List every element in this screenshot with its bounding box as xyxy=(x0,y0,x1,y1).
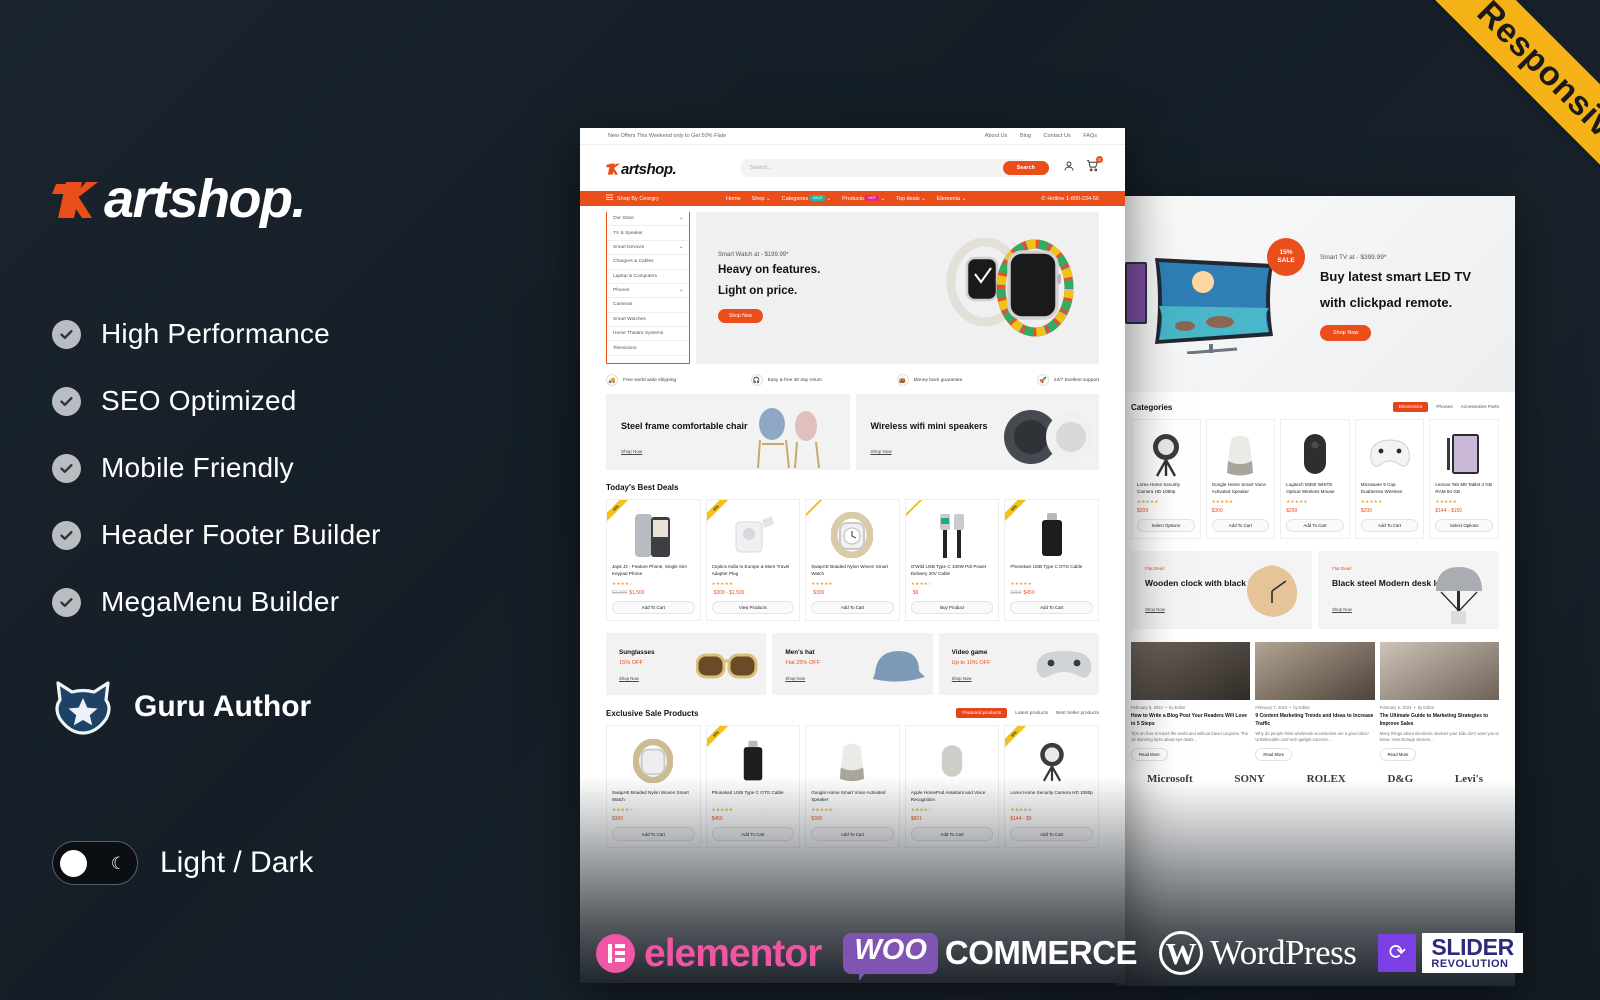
discount-badge: 15% xyxy=(607,500,634,527)
tab-accessories[interactable]: Accessories Parts xyxy=(1461,405,1499,410)
blog-meta: February 9, 2024 • by Editor xyxy=(1131,705,1250,710)
light-dark-toggle[interactable]: ☾ Light / Dark xyxy=(52,841,572,885)
product-name: Google Home Smart Voice Activated Speake… xyxy=(811,790,894,804)
product-card[interactable]: 15% Ceptics India to Europe & More Trave… xyxy=(706,499,801,621)
services-bar: 🚚 Free world wide shipping 🎧 Easy & free… xyxy=(580,364,1125,394)
site-header: artshop. Search... Search 0 xyxy=(580,145,1125,191)
brand-levis: Levi's xyxy=(1455,773,1483,785)
account-icon[interactable] xyxy=(1063,159,1075,177)
mockup-screenshot-front: New Offers This Weekend only to Get 50% … xyxy=(580,128,1125,983)
product-name: Phonekart USB Type C OTG Cable xyxy=(1010,564,1093,578)
blog-card[interactable]: February 5, 2024 • by Editor The Ultimat… xyxy=(1380,642,1499,761)
check-icon xyxy=(52,387,81,416)
service-label: Free world wide shipping xyxy=(623,378,676,383)
product-price: $200 xyxy=(1361,508,1419,514)
blog-date: February 5, 2024 xyxy=(1380,705,1412,710)
product-cta[interactable]: Add To Cart xyxy=(712,827,795,840)
product-price: $801 xyxy=(911,816,994,822)
product-price: $300 xyxy=(811,816,894,822)
cart-icon[interactable]: 0 xyxy=(1086,159,1099,177)
sr-line-1: SLIDER xyxy=(1431,936,1514,959)
search-input[interactable]: Search... xyxy=(740,159,1029,177)
nav-item-home[interactable]: Home xyxy=(726,196,741,202)
tab-latest-products[interactable]: Latest products xyxy=(1015,711,1048,716)
hero-title-2: Light on price. xyxy=(718,283,820,300)
discount-badge: 15% xyxy=(1005,726,1032,753)
hotline-text: ✆ Hotline 1-800-234-56 xyxy=(1041,196,1099,202)
feature-item: SEO Optimized xyxy=(52,385,572,417)
feature-label: High Performance xyxy=(101,318,330,350)
product-name: Logitech M350 WHITE Optical Wireless Mou… xyxy=(1286,482,1344,496)
slider-revolution-label: SLIDER REVOLUTION xyxy=(1422,933,1523,974)
blog-card[interactable]: February 9, 2024 • by Editor How to Writ… xyxy=(1131,642,1250,761)
exclusive-grid: SwapAE Braided Nylon Woven Smart Watch ★… xyxy=(580,725,1125,847)
product-cta[interactable]: Add To Cart xyxy=(1286,519,1344,532)
deal-link[interactable]: Shop Now xyxy=(1145,607,1165,612)
topbar-links: About Us Blog Contact Us FAQs xyxy=(974,133,1097,139)
product-card[interactable]: Google Home Smart Voice Activated Speake… xyxy=(1206,419,1276,539)
product-name: Apple HomePod Assistant and Voice Recogn… xyxy=(911,790,994,804)
feature-label: Header Footer Builder xyxy=(101,519,381,551)
site-topbar: New Offers This Weekend only to Get 50% … xyxy=(580,128,1125,145)
service-label: Easy & free 30 day return xyxy=(768,378,822,383)
product-card[interactable]: SwapAE Braided Nylon Woven Smart Watch ★… xyxy=(805,499,900,621)
product-card[interactable]: Lorex Home Security Camera HD 1080p ★★★★… xyxy=(1131,419,1201,539)
blog-read-more[interactable]: Read More xyxy=(1255,748,1292,761)
smartwatch-image xyxy=(937,230,1077,348)
product-name: Phonekart USB Type C OTG Cable xyxy=(712,790,795,804)
blog-read-more[interactable]: Read More xyxy=(1380,748,1417,761)
deal-tag: Flat Deal! xyxy=(1145,566,1165,571)
tv-hero-title-1: Buy latest smart LED TV xyxy=(1320,267,1471,287)
truck-icon: 🚚 xyxy=(606,374,618,386)
sale-banner-link[interactable]: Shop Now xyxy=(785,676,805,681)
topbar-link-faqs[interactable]: FAQs xyxy=(1083,133,1097,139)
tv-hero-title-2: with clickpad remote. xyxy=(1320,293,1471,313)
responsive-ribbon: Responsive xyxy=(1350,0,1600,250)
product-rating: ★★★★★ xyxy=(712,807,795,813)
blog-excerpt: Tips on how to travel the world and with… xyxy=(1131,731,1250,744)
exclusive-header: Exclusive Sale Products Featured product… xyxy=(580,695,1125,725)
blog-title: 9 Content Marketing Trends and Ideas to … xyxy=(1255,713,1374,728)
product-image xyxy=(1435,426,1493,482)
sale-banner-title: Men's hat xyxy=(785,649,814,656)
toggle-switch[interactable]: ☾ xyxy=(52,841,138,885)
product-cta[interactable]: Add To Cart xyxy=(612,601,695,614)
elementor-logo: elementor xyxy=(596,934,821,973)
check-icon xyxy=(52,320,81,349)
category-item[interactable]: Laptop & Computers xyxy=(607,270,689,284)
feature-item: Mobile Friendly xyxy=(52,452,572,484)
brand-k-icon xyxy=(52,170,108,226)
brand-strip: Microsoft SONY ROLEX D&G Levi's xyxy=(1131,761,1499,785)
product-card[interactable]: Logitech M350 WHITE Optical Wireless Mou… xyxy=(1280,419,1350,539)
categories-title: Categories xyxy=(1131,403,1172,412)
product-image xyxy=(811,732,894,790)
wordpress-icon: W xyxy=(1159,931,1203,975)
cat-star-icon xyxy=(52,678,114,736)
product-card[interactable]: 15% Lorex Home Security Camera HD 1080p … xyxy=(1004,725,1099,847)
blog-meta: February 5, 2024 • by Editor xyxy=(1380,705,1499,710)
blog-date: February 9, 2024 xyxy=(1131,705,1163,710)
sale-banner[interactable]: Men's hat Flat 25% OFF Shop Now xyxy=(772,633,932,695)
product-image xyxy=(1212,426,1270,482)
nav-badge-hot: HOT xyxy=(865,195,879,201)
product-rating: ★★★★☆ xyxy=(911,807,994,813)
product-cta[interactable]: Add To Cart xyxy=(1010,601,1093,614)
nav-item-top-deals[interactable]: Top deals ⌄ xyxy=(896,196,926,202)
woocommerce-label: COMMERCE xyxy=(945,934,1137,972)
brand-microsoft: Microsoft xyxy=(1147,773,1193,785)
service-item: 🚀 24/7 Exellent support xyxy=(1037,374,1099,386)
sr-line-2: REVOLUTION xyxy=(1431,959,1514,970)
sale-badge: 15% SALE xyxy=(1267,238,1305,276)
product-price: $144 - $150 xyxy=(1435,508,1493,514)
discount-badge: 15% xyxy=(1005,500,1032,527)
category-item[interactable]: TV & Speaker xyxy=(607,226,689,240)
elementor-icon xyxy=(596,934,635,973)
product-name: SwapAE Braided Nylon Woven Smart Watch xyxy=(811,564,894,578)
product-name: Lorex Home Security Camera HD 1080p xyxy=(1010,790,1093,804)
brand-logo: artshop. xyxy=(52,170,572,226)
category-item[interactable]: Our Store⌄ xyxy=(607,212,689,226)
wordpress-logo: W WordPress xyxy=(1159,931,1356,975)
deals-section-title: Today's Best Deals xyxy=(580,470,1125,499)
rocket-icon: 🚀 xyxy=(1037,374,1049,386)
service-item: 🚚 Free world wide shipping xyxy=(606,374,676,386)
product-cta[interactable]: Add To Cart xyxy=(612,827,695,840)
product-card[interactable]: 15% Phonekart USB Type C OTG Cable ★★★★★… xyxy=(1004,499,1099,621)
product-rating: ★★★★★ xyxy=(1137,499,1195,505)
wordpress-label: WordPress xyxy=(1210,933,1356,973)
blog-author: by Editor xyxy=(1418,705,1435,710)
nav-item-elements[interactable]: Elementa ⌄ xyxy=(937,196,966,202)
sale-banner-link[interactable]: Shop Now xyxy=(619,676,639,681)
shop-by-category-label: Shop By Ceorgry xyxy=(617,196,659,202)
tab-featured-products[interactable]: Featured products xyxy=(956,708,1007,718)
hero-text: Smart Watch at - $199.99* Heavy on featu… xyxy=(718,252,820,323)
promo-link[interactable]: Shop Now xyxy=(871,449,892,454)
deal-tag: Flat Deal! xyxy=(1332,566,1352,571)
category-item[interactable]: Smart Devices⌄ xyxy=(607,241,689,255)
product-price: $300 xyxy=(811,590,894,596)
product-rating: ★★★★★ xyxy=(1435,499,1493,505)
cart-count-badge: 0 xyxy=(1096,156,1103,163)
deal-banner[interactable]: Flat Deal! Wooden clock with black hands… xyxy=(1131,551,1312,629)
promo-banners: Steel frame comfortable chair Shop Now W… xyxy=(580,394,1125,470)
tv-hero-text: Smart TV at - $399.99* Buy latest smart … xyxy=(1320,254,1471,341)
product-card[interactable]: 15% Phonekart USB Type C OTG Cable ★★★★★… xyxy=(706,725,801,847)
flat-deal-banners: Flat Deal! Wooden clock with black hands… xyxy=(1131,551,1499,629)
product-name: Google Home Smart Voice Activated Speake… xyxy=(1212,482,1270,496)
product-rating: ★★★★☆ xyxy=(911,581,994,587)
tab-best-seller-products[interactable]: Best Seller products xyxy=(1056,711,1099,716)
mockup-screenshot-back: 15% SALE Smart TV at - $399.99* Buy late… xyxy=(1115,196,1515,986)
feature-item: MegaMenu Builder xyxy=(52,586,572,618)
slider-revolution-logo: ⟳ SLIDER REVOLUTION xyxy=(1378,933,1523,974)
shop-by-category-button[interactable]: Shop By Ceorgry xyxy=(606,194,726,203)
product-card[interactable]: SwapAE Braided Nylon Woven Smart Watch ★… xyxy=(606,725,701,847)
nav-links: Home Shop ⌄ Categories SALE ⌄ Products H… xyxy=(726,196,1041,202)
headset-icon: 🎧 xyxy=(751,374,763,386)
category-item[interactable]: Televisions xyxy=(607,341,689,355)
product-price: $900$450 xyxy=(1010,590,1093,596)
product-price: $299 xyxy=(1286,508,1344,514)
discount-badge: 15% xyxy=(707,726,734,753)
bag-icon: 👜 xyxy=(897,374,909,386)
brand-rolex: ROLEX xyxy=(1307,773,1346,785)
blog-thumbnail xyxy=(1380,642,1499,700)
promo-banner[interactable]: Steel frame comfortable chair Shop Now xyxy=(606,394,850,470)
category-item[interactable]: Home Theatre Systems xyxy=(607,327,689,341)
elementor-label: elementor xyxy=(644,934,821,973)
product-price: $2,000$1,500 xyxy=(612,590,695,596)
feature-list: High Performance SEO Optimized Mobile Fr… xyxy=(52,318,572,618)
product-cta[interactable]: Add To Cart xyxy=(1212,519,1270,532)
blog-author: by Editor xyxy=(1293,705,1310,710)
categories-section: Categories Electronics Phones Accessorie… xyxy=(1115,392,1515,785)
sale-banner[interactable]: Video game Up to 10% OFF Shop Now xyxy=(939,633,1099,695)
deals-grid: 15% Jajot J2 - Feature Phone, Single Sim… xyxy=(580,499,1125,621)
check-icon xyxy=(52,454,81,483)
product-name: Lorex Home Security Camera HD 1080p xyxy=(1137,482,1195,496)
product-price: $209 xyxy=(1137,508,1195,514)
feature-label: SEO Optimized xyxy=(101,385,297,417)
deal-banner[interactable]: Flat Deal! Black steel Modern desk lemp … xyxy=(1318,551,1499,629)
product-cta[interactable]: Add To Cart xyxy=(1361,519,1419,532)
discount-badge: 15% xyxy=(707,500,734,527)
responsive-ribbon-label: Responsive xyxy=(1405,0,1600,224)
woo-icon: WOO xyxy=(843,933,938,974)
tab-electronics[interactable]: Electronics xyxy=(1393,402,1428,412)
check-icon xyxy=(52,588,81,617)
product-card[interactable]: 15% Jajot J2 - Feature Phone, Single Sim… xyxy=(606,499,701,621)
site-navbar: Shop By Ceorgry Home Shop ⌄ Categories S… xyxy=(580,191,1125,206)
sale-banner-offer: Up to 10% OFF xyxy=(952,660,991,666)
check-icon xyxy=(52,521,81,550)
product-card[interactable]: Lenovo Tab M9 Tablet 4 GB RAM 64 GB ★★★★… xyxy=(1429,419,1499,539)
blog-excerpt: Many things about electronic devices you… xyxy=(1380,731,1499,744)
product-image xyxy=(612,732,695,790)
categories-tabs: Electronics Phones Accessories Parts xyxy=(1393,402,1499,412)
discount-badge xyxy=(806,500,833,527)
product-price: $144 - $9 xyxy=(1010,816,1093,822)
category-product-grid: Lorex Home Security Camera HD 1080p ★★★★… xyxy=(1131,419,1499,539)
product-image xyxy=(911,732,994,790)
categories-header: Categories Electronics Phones Accessorie… xyxy=(1131,402,1499,412)
product-price: $300 xyxy=(612,816,695,822)
topbar-link-contact[interactable]: Contact Us xyxy=(1043,133,1070,139)
exclusive-tabs: Featured products Latest products Best S… xyxy=(956,708,1099,718)
blog-author: by Editor xyxy=(1169,705,1186,710)
product-price: $9 xyxy=(911,590,994,596)
blog-meta: February 7, 2024 • by Editor xyxy=(1255,705,1374,710)
blog-list: February 9, 2024 • by Editor How to Writ… xyxy=(1131,642,1499,761)
promo-banner[interactable]: Wireless wifi mini speakers Shop Now xyxy=(856,394,1100,470)
woocommerce-logo: WOO COMMERCE xyxy=(843,933,1137,974)
product-rating: ★★★★★ xyxy=(811,807,894,813)
product-cta[interactable]: Buy Product xyxy=(911,601,994,614)
sale-banner[interactable]: Sunglasses 15% OFF Shop Now xyxy=(606,633,766,695)
theme-preview-banner: Responsive artshop. High Performance xyxy=(0,0,1600,1000)
product-image xyxy=(1137,426,1195,482)
product-card[interactable]: O'Wild USB Type C 100W PdI Power Deliver… xyxy=(905,499,1000,621)
promo-title: Wireless wifi mini speakers xyxy=(871,420,988,433)
tv-hero-cta[interactable]: Shop Now xyxy=(1320,325,1371,341)
product-image xyxy=(1361,426,1419,482)
product-name: Microware 9 Cap DualSense Wireless Contr… xyxy=(1361,482,1419,496)
phone-icon: ✆ xyxy=(1041,196,1046,202)
site-search: Search... Search xyxy=(740,159,1049,177)
product-rating: ★★★★★ xyxy=(1010,581,1093,587)
category-item[interactable]: Cameras xyxy=(607,298,689,312)
product-rating: ★★★★★ xyxy=(1212,499,1270,505)
nav-badge-sale: SALE xyxy=(810,195,825,201)
slider-revolution-icon: ⟳ xyxy=(1378,934,1416,972)
product-cta[interactable]: Add To Cart xyxy=(911,827,994,840)
blog-date: February 7, 2024 xyxy=(1255,705,1287,710)
product-rating: ★★★★★ xyxy=(1361,499,1419,505)
sale-badge-percent: 15% xyxy=(1279,249,1292,257)
topbar-link-blog[interactable]: Blog xyxy=(1020,133,1031,139)
left-info-column: artshop. High Performance SEO Optimized … xyxy=(52,170,572,885)
product-cta[interactable]: Select Options xyxy=(1435,519,1493,532)
product-cta[interactable]: View Products xyxy=(712,601,795,614)
nav-item-shop[interactable]: Shop ⌄ xyxy=(752,196,771,202)
brand-dg: D&G xyxy=(1387,773,1413,785)
sale-banner-offer: 15% OFF xyxy=(619,660,643,666)
blog-thumbnail xyxy=(1131,642,1250,700)
product-name: O'Wild USB Type C 100W PdI Power Deliver… xyxy=(911,564,994,578)
category-item[interactable]: Chargers & Cables xyxy=(607,255,689,269)
service-item: 🎧 Easy & free 30 day return xyxy=(751,374,822,386)
blog-title: The Ultimate Guide to Marketing Strategi… xyxy=(1380,713,1499,728)
product-name: SwapAE Braided Nylon Woven Smart Watch xyxy=(612,790,695,804)
topbar-link-about[interactable]: About Us xyxy=(985,133,1008,139)
product-image xyxy=(1286,426,1344,482)
site-logo-text: artshop. xyxy=(621,162,676,177)
product-rating: ★★★★★ xyxy=(712,581,795,587)
product-price: $300 - $1,500 xyxy=(712,590,795,596)
product-card[interactable]: Microware 9 Cap DualSense Wireless Contr… xyxy=(1355,419,1425,539)
product-rating: ★★★★☆ xyxy=(612,807,695,813)
hero-subtitle: Smart Watch at - $199.99* xyxy=(718,252,820,258)
light-dark-label: Light / Dark xyxy=(160,846,313,880)
guru-author-label: Guru Author xyxy=(134,690,311,724)
blog-card[interactable]: February 7, 2024 • by Editor 9 Content M… xyxy=(1255,642,1374,761)
product-card[interactable]: Apple HomePod Assistant and Voice Recogn… xyxy=(905,725,1000,847)
service-label: 24/7 Exellent support xyxy=(1054,378,1099,383)
plugin-logo-strip: elementor WOO COMMERCE W WordPress ⟳ SLI… xyxy=(596,922,1596,984)
exclusive-title: Exclusive Sale Products xyxy=(606,709,699,718)
deal-link[interactable]: Shop Now xyxy=(1332,607,1352,612)
search-button[interactable]: Search xyxy=(1003,161,1049,175)
product-rating: ★★★★★ xyxy=(1286,499,1344,505)
product-rating: ★★★★★ xyxy=(1010,807,1093,813)
blog-thumbnail xyxy=(1255,642,1374,700)
product-cta[interactable]: Add To Cart xyxy=(811,827,894,840)
blog-excerpt: Why do people think wholesale accessorie… xyxy=(1255,731,1374,744)
site-logo[interactable]: artshop. xyxy=(606,160,726,177)
hero-cta[interactable]: Shop Now xyxy=(718,309,763,323)
product-price: $450 xyxy=(712,816,795,822)
product-cta[interactable]: Add To Cart xyxy=(811,601,894,614)
sale-badge-word: SALE xyxy=(1277,257,1294,265)
product-name: Ceptics India to Europe & More Travel Ad… xyxy=(712,564,795,578)
category-sidebar: Our Store⌄ TV & Speaker Smart Devices⌄ C… xyxy=(606,212,690,364)
hero-banner: Smart Watch at - $199.99* Heavy on featu… xyxy=(696,212,1099,364)
brand-name: artshop. xyxy=(104,172,305,226)
product-name: Lenovo Tab M9 Tablet 4 GB RAM 64 GB xyxy=(1435,482,1493,496)
nav-item-categories[interactable]: Categories SALE ⌄ xyxy=(782,196,831,202)
sale-banner-trio: Sunglasses 15% OFF Shop Now Men's hat Fl… xyxy=(580,621,1125,695)
product-rating: ★★★★☆ xyxy=(612,581,695,587)
tv-hero-subtitle: Smart TV at - $399.99* xyxy=(1320,254,1471,261)
guru-author-badge: Guru Author xyxy=(52,678,572,736)
tab-phones[interactable]: Phones xyxy=(1436,405,1452,410)
sale-banner-offer: Flat 25% OFF xyxy=(785,660,820,666)
feature-label: Mobile Friendly xyxy=(101,452,294,484)
hero-title-1: Heavy on features. xyxy=(718,262,820,279)
product-price: $300 xyxy=(1212,508,1270,514)
product-rating: ★★★★★ xyxy=(811,581,894,587)
feature-label: MegaMenu Builder xyxy=(101,586,339,618)
product-cta[interactable]: Add To Cart xyxy=(1010,827,1093,840)
sale-banner-link[interactable]: Shop Now xyxy=(952,676,972,681)
toggle-knob xyxy=(60,850,87,877)
hamburger-icon xyxy=(606,194,613,203)
sale-banner-title: Sunglasses xyxy=(619,649,655,656)
product-card[interactable]: Google Home Smart Voice Activated Speake… xyxy=(805,725,900,847)
moon-icon: ☾ xyxy=(111,855,126,872)
service-label: Money back guarantee xyxy=(914,378,963,383)
hero-row: Our Store⌄ TV & Speaker Smart Devices⌄ C… xyxy=(580,206,1125,364)
feature-item: High Performance xyxy=(52,318,572,350)
product-cta[interactable]: Select Options xyxy=(1137,519,1195,532)
service-item: 👜 Money back guarantee xyxy=(897,374,963,386)
sale-banner-title: Video game xyxy=(952,649,988,656)
feature-item: Header Footer Builder xyxy=(52,519,572,551)
category-item[interactable]: Smart Watches xyxy=(607,313,689,327)
brand-sony: SONY xyxy=(1234,773,1265,785)
promo-link[interactable]: Shop Now xyxy=(621,449,642,454)
blog-title: How to Write a Blog Post Your Readers Wi… xyxy=(1131,713,1250,728)
promo-title: Steel frame comfortable chair xyxy=(621,420,748,433)
topbar-promo: New Offers This Weekend only to Get 50% … xyxy=(608,133,726,139)
category-item[interactable]: Phones⌄ xyxy=(607,284,689,298)
blog-read-more[interactable]: Read More xyxy=(1131,748,1168,761)
product-name: Jajot J2 - Feature Phone, Single Sim Key… xyxy=(612,564,695,578)
discount-badge xyxy=(906,500,933,527)
nav-item-products[interactable]: Products HOT ⌄ xyxy=(842,196,885,202)
header-icons: 0 xyxy=(1063,159,1099,177)
